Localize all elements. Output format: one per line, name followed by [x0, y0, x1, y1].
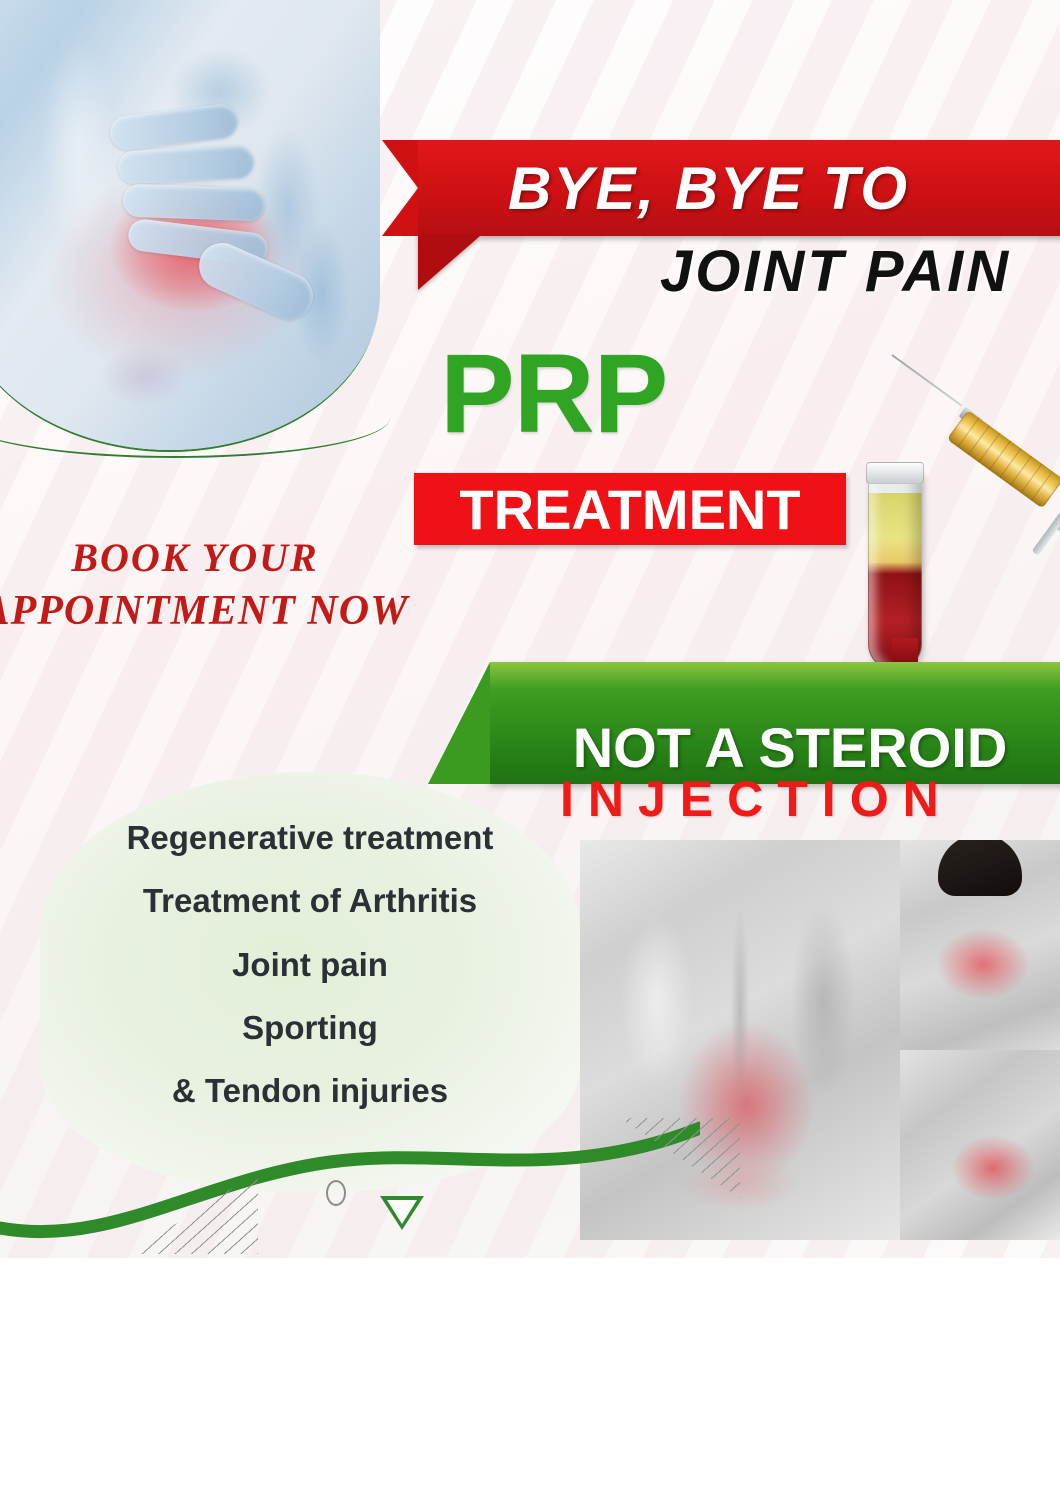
treatment-label-block: TREATMENT — [414, 473, 846, 545]
steroid-banner: NOT A STEROID — [490, 662, 1060, 784]
knee-hand-fingers — [0, 0, 380, 450]
circle-outline-decoration — [326, 1180, 346, 1206]
footer-bar: Follow us on مستشفى الامل ذ.م.م AL AMAL … — [0, 1258, 1060, 1500]
syringe-flange — [1032, 504, 1060, 556]
benefit-item: Treatment of Arthritis — [40, 869, 580, 932]
booking-cta-line2: APPOINTMENT NOW — [0, 587, 420, 635]
headline-banner-tail — [418, 236, 480, 290]
knee-pain-photo — [0, 0, 380, 450]
benefit-item: Sporting — [40, 996, 580, 1059]
treatment-label: TREATMENT — [459, 477, 800, 542]
headline-text: BYE, BYE TO — [418, 154, 909, 223]
subheadline-text: JOINT PAIN — [660, 238, 1011, 305]
green-wave-decoration — [0, 1120, 700, 1270]
injection-text: INJECTION — [560, 770, 953, 828]
blood-tube-cap — [866, 462, 924, 484]
headline-banner: BYE, BYE TO — [418, 140, 1060, 236]
booking-cta: BOOK YOUR APPOINTMENT NOW — [0, 534, 420, 635]
syringe-needle — [891, 354, 962, 406]
syringe-barrel — [947, 410, 1060, 508]
poster-canvas: BYE, BYE TO JOINT PAIN PRP TREATMENT BOO… — [0, 0, 1060, 1500]
benefit-item: Regenerative treatment — [40, 806, 580, 869]
triangle-outline-decoration — [380, 1196, 424, 1230]
elbow-pain-photo — [900, 1050, 1060, 1240]
benefit-item: Joint pain — [40, 933, 580, 996]
neck-pain-photo — [900, 840, 1060, 1070]
prp-title: PRP — [440, 342, 667, 445]
booking-cta-line1: BOOK YOUR — [0, 534, 420, 581]
benefits-list: Regenerative treatment Treatment of Arth… — [40, 806, 580, 1123]
benefit-item: & Tendon injuries — [40, 1059, 580, 1122]
